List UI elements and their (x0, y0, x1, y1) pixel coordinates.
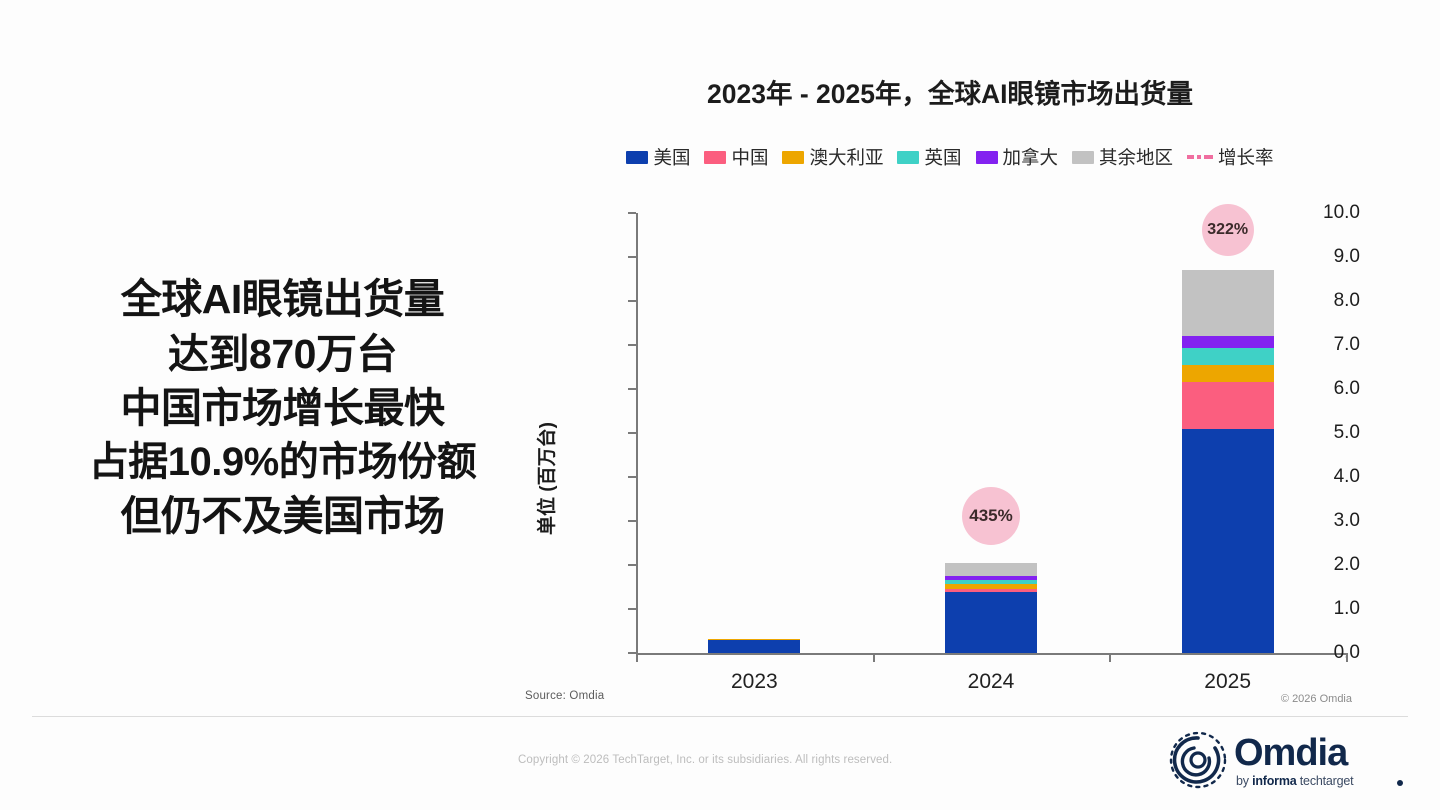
omdia-wordmark: Omdia (1234, 732, 1347, 775)
slide-root: 全球AI眼镜出货量 达到870万台 中国市场增长最快 占据10.9%的市场份额 … (0, 0, 1440, 810)
y-tick-mark (628, 652, 636, 654)
footer-divider (32, 716, 1408, 717)
x-tick-mark (636, 653, 638, 662)
growth-rate-label: 322% (1207, 221, 1248, 239)
omdia-swirl-icon (1168, 730, 1228, 790)
y-tick-mark (628, 608, 636, 610)
dashed-line-icon (1187, 151, 1213, 164)
x-tick-mark (1109, 653, 1111, 662)
omdia-copyright: © 2026 Omdia (1281, 693, 1352, 705)
legend-swatch-icon (704, 151, 726, 164)
legend-label: 英国 (924, 144, 961, 170)
y-axis-title: 单位 (百万台) (532, 422, 559, 535)
legend-swatch-icon (782, 151, 804, 164)
legend-label: 加拿大 (1003, 144, 1059, 170)
legend-item-growth[interactable]: 增长率 (1187, 144, 1274, 170)
bar-segment-us[interactable] (708, 640, 800, 653)
legend-label: 美国 (653, 144, 690, 170)
growth-rate-bubble: 435% (962, 487, 1020, 545)
footer-copyright: Copyright © 2026 TechTarget, Inc. or its… (518, 754, 892, 766)
headline-line-1: 全球AI眼镜出货量 (30, 272, 535, 327)
y-tick-mark (628, 388, 636, 390)
headline-block: 全球AI眼镜出货量 达到870万台 中国市场增长最快 占据10.9%的市场份额 … (30, 272, 535, 543)
headline-line-2: 达到870万台 (30, 327, 535, 382)
legend-item-australia[interactable]: 澳大利亚 (782, 144, 883, 170)
legend-item-rest[interactable]: 其余地区 (1072, 144, 1173, 170)
bar-segment-rest[interactable] (1182, 270, 1274, 336)
legend-label: 其余地区 (1099, 144, 1173, 170)
bar-segment-uk[interactable] (1182, 348, 1274, 365)
omdia-logo: Omdia by informa techtarget (1168, 730, 1408, 792)
legend-swatch-icon (626, 151, 648, 164)
plot-canvas (636, 213, 1346, 653)
legend-item-china[interactable]: 中国 (704, 144, 768, 170)
headline-line-3: 中国市场增长最快 (30, 381, 535, 436)
y-tick-mark (628, 432, 636, 434)
x-tick-mark (1346, 653, 1348, 662)
y-tick-mark (628, 564, 636, 566)
legend-label: 增长率 (1218, 144, 1274, 170)
y-tick-mark (628, 344, 636, 346)
legend-item-canada[interactable]: 加拿大 (976, 144, 1059, 170)
source-note: Source: Omdia (525, 690, 604, 702)
x-tick-mark (873, 653, 875, 662)
growth-rate-bubble: 322% (1202, 204, 1254, 256)
y-tick-mark (628, 256, 636, 258)
bar-segment-rest[interactable] (945, 563, 1037, 577)
omdia-dot-icon (1397, 780, 1403, 786)
y-tick-mark (628, 212, 636, 214)
legend-label: 澳大利亚 (809, 144, 883, 170)
headline-line-4: 占据10.9%的市场份额 (30, 436, 535, 489)
x-tick-label: 2025 (1204, 670, 1251, 694)
x-tick-label: 2024 (968, 670, 1015, 694)
legend-swatch-icon (1072, 151, 1094, 164)
growth-rate-label: 435% (969, 506, 1012, 526)
x-axis-line (636, 653, 1348, 655)
legend-label: 中国 (731, 144, 768, 170)
bar-2023[interactable] (708, 639, 800, 653)
legend-swatch-icon (976, 151, 998, 164)
bar-segment-canada[interactable] (1182, 336, 1274, 348)
y-tick-mark (628, 520, 636, 522)
bar-2025[interactable] (1182, 270, 1274, 653)
omdia-tagline: by informa techtarget (1236, 774, 1353, 788)
bar-segment-china[interactable] (1182, 382, 1274, 428)
x-tick-label: 2023 (731, 670, 778, 694)
bar-segment-us[interactable] (945, 592, 1037, 653)
chart-title: 2023年 - 2025年，全球AI眼镜市场出货量 (540, 72, 1360, 111)
chart-plot-area: 单位 (百万台) 0.01.02.03.04.05.06.07.08.09.01… (540, 195, 1360, 670)
legend-item-uk[interactable]: 英国 (897, 144, 961, 170)
chart-legend: 美国中国澳大利亚英国加拿大其余地区增长率 (540, 144, 1360, 170)
legend-item-us[interactable]: 美国 (626, 144, 690, 170)
y-tick-mark (628, 300, 636, 302)
bar-segment-australia[interactable] (1182, 365, 1274, 383)
bar-2024[interactable] (945, 563, 1037, 653)
headline-line-5: 但仍不及美国市场 (30, 489, 535, 544)
bar-segment-us[interactable] (1182, 429, 1274, 653)
legend-swatch-icon (897, 151, 919, 164)
y-tick-mark (628, 476, 636, 478)
